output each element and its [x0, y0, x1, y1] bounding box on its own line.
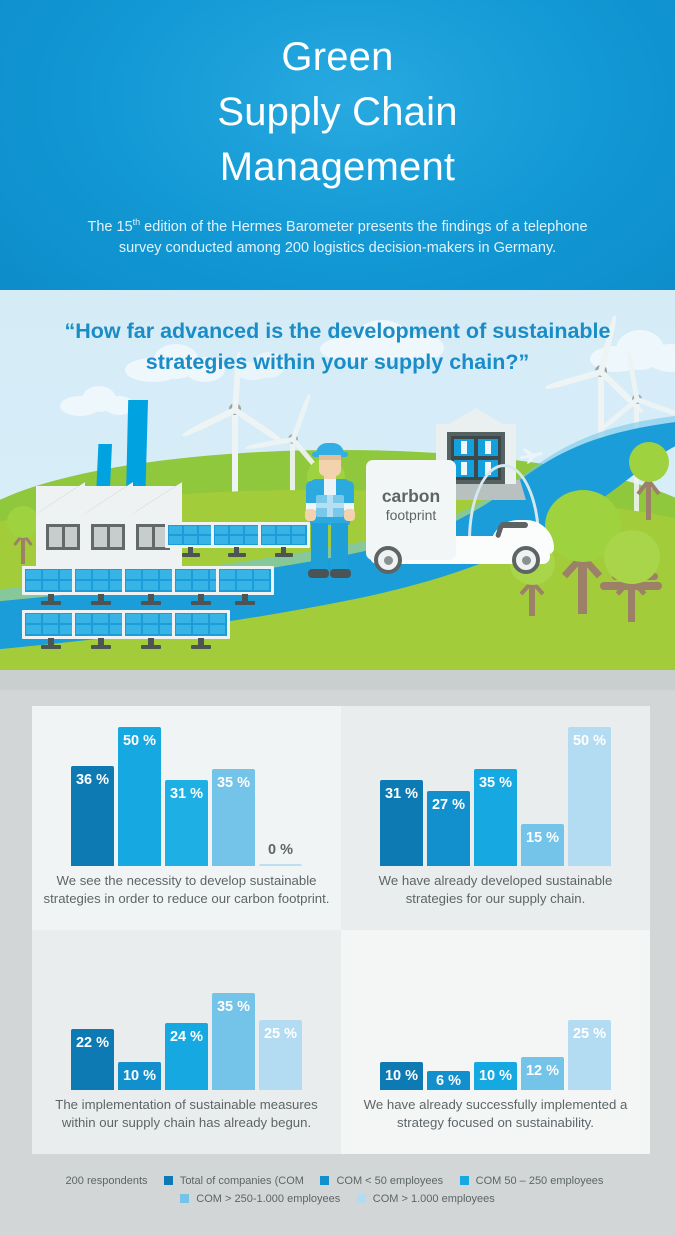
bike-hub: [384, 556, 393, 565]
bar-value-label: 24 %: [165, 1029, 208, 1045]
legend-item-250-1000[interactable]: COM > 250-1.000 employees: [180, 1190, 340, 1208]
legend-item-total[interactable]: Total of companies (COM: [164, 1172, 304, 1190]
bar-total: 36 %: [71, 766, 114, 866]
respondents-note: 200 respondents: [66, 1172, 148, 1190]
bar-gt1000: 25 %: [568, 1020, 611, 1090]
bar-value-label: 25 %: [259, 1026, 302, 1042]
bar-value-label: 36 %: [71, 772, 114, 788]
bar-value-label: 10 %: [380, 1068, 423, 1084]
bar-value-label: 31 %: [165, 786, 208, 802]
bar-50-250: 10 %: [474, 1062, 517, 1090]
box-label-line-1: carbon: [366, 486, 456, 507]
bar-value-label: 35 %: [212, 775, 255, 791]
chart-plot-4: 10 % 6 % 10 % 12 % 25 %: [341, 930, 650, 1090]
question-headline: “How far advanced is the development of …: [0, 316, 675, 378]
header-subtitle: The 15th edition of the Hermes Barometer…: [0, 212, 675, 259]
bar-value-label: 35 %: [474, 775, 517, 791]
bar-gt1000: 0 %: [259, 864, 302, 866]
legend-item-50-250[interactable]: COM 50 – 250 employees: [460, 1172, 604, 1190]
chart-caption-3: The implementation of sustainable measur…: [42, 1096, 331, 1131]
bar-value-label: 10 %: [474, 1068, 517, 1084]
bar-value-label: 35 %: [212, 999, 255, 1015]
chart-panel-4: 10 % 6 % 10 % 12 % 25 % We have already …: [341, 930, 650, 1154]
bar-group-3: 22 % 10 % 24 % 35 % 25 %: [32, 940, 341, 1090]
bar-total: 10 %: [380, 1062, 423, 1090]
cargo-bike: carbon footprint: [360, 458, 570, 580]
charts-section: 36 % 50 % 31 % 35 % 0 % We see the neces…: [0, 690, 675, 1170]
title-line-1: Green: [0, 30, 675, 85]
bar-value-label: 27 %: [427, 797, 470, 813]
bar-gt1000: 50 %: [568, 727, 611, 866]
bar-lt50: 6 %: [427, 1071, 470, 1090]
title-line-3: Management: [0, 140, 675, 195]
legend-label: COM 50 – 250 employees: [476, 1175, 604, 1187]
bar-lt50: 10 %: [118, 1062, 161, 1090]
chart-plot-2: 31 % 27 % 35 % 15 % 50 %: [341, 706, 650, 866]
bar-value-label: 22 %: [71, 1035, 114, 1051]
chart-caption-4: We have already successfully implemented…: [351, 1096, 640, 1131]
bar-value-label: 50 %: [118, 733, 161, 749]
solar-panel-icon: [172, 610, 234, 648]
title-line-2: Supply Chain: [0, 85, 675, 140]
bar-value-label: 31 %: [380, 786, 423, 802]
bar-group-4: 10 % 6 % 10 % 12 % 25 %: [341, 940, 650, 1090]
carbon-footprint-box: carbon footprint: [366, 460, 456, 560]
chart-plot-1: 36 % 50 % 31 % 35 % 0 %: [32, 706, 341, 866]
legend-label: COM < 50 employees: [336, 1175, 443, 1187]
header-banner: Green Supply Chain Management The 15th e…: [0, 0, 675, 290]
subtitle-pre: The 15: [87, 219, 132, 235]
legend-swatch-icon: [180, 1194, 189, 1203]
legend-item-lt50[interactable]: COM < 50 employees: [320, 1172, 443, 1190]
bar-value-label: 0 %: [259, 842, 302, 858]
bar-gt1000: 25 %: [259, 1020, 302, 1090]
legend-row-1: 200 respondents Total of companies (COM …: [0, 1172, 675, 1190]
bar-250-1000: 15 %: [521, 824, 564, 866]
legend: 200 respondents Total of companies (COM …: [0, 1172, 675, 1208]
bar-50-250: 35 %: [474, 769, 517, 866]
legend-swatch-icon: [320, 1176, 329, 1185]
bar-value-label: 10 %: [118, 1068, 161, 1084]
bar-lt50: 50 %: [118, 727, 161, 866]
bar-group-1: 36 % 50 % 31 % 35 % 0 %: [32, 716, 341, 866]
legend-label: COM > 1.000 employees: [373, 1193, 495, 1205]
bar-value-label: 50 %: [568, 733, 611, 749]
bar-50-250: 31 %: [165, 780, 208, 866]
legend-label: Total of companies (COM: [180, 1175, 304, 1187]
bar-total: 31 %: [380, 780, 423, 866]
bar-250-1000: 35 %: [212, 769, 255, 866]
chart-panel-2: 31 % 27 % 35 % 15 % 50 % We have already…: [341, 706, 650, 930]
chart-panel-1: 36 % 50 % 31 % 35 % 0 % We see the neces…: [32, 706, 341, 930]
legend-row-2: COM > 250-1.000 employees COM > 1.000 em…: [0, 1190, 675, 1208]
box-label-line-2: footprint: [366, 507, 456, 523]
bike-seat: [500, 522, 528, 528]
bar-lt50: 27 %: [427, 791, 470, 866]
bar-50-250: 24 %: [165, 1023, 208, 1090]
bar-group-2: 31 % 27 % 35 % 15 % 50 %: [341, 716, 650, 866]
box-label: carbon footprint: [366, 486, 456, 523]
bar-value-label: 15 %: [521, 830, 564, 846]
bar-250-1000: 12 %: [521, 1057, 564, 1090]
legend-swatch-icon: [460, 1176, 469, 1185]
bar-total: 22 %: [71, 1029, 114, 1090]
legend-label: COM > 250-1.000 employees: [196, 1193, 340, 1205]
page-title: Green Supply Chain Management: [0, 30, 675, 195]
legend-swatch-icon: [357, 1194, 366, 1203]
bar-value-label: 12 %: [521, 1063, 564, 1079]
bar-value-label: 25 %: [568, 1026, 611, 1042]
illustration-scene: “How far advanced is the development of …: [0, 290, 675, 690]
legend-swatch-icon: [164, 1176, 173, 1185]
legend-item-gt1000[interactable]: COM > 1.000 employees: [357, 1190, 495, 1208]
solar-panel-icon: [216, 566, 278, 604]
bike-hub: [522, 556, 531, 565]
chart-panel-3: 22 % 10 % 24 % 35 % 25 % The implementat…: [32, 930, 341, 1154]
chart-plot-3: 22 % 10 % 24 % 35 % 25 %: [32, 930, 341, 1090]
worker-figure: [300, 443, 360, 583]
chart-caption-2: We have already developed sustainable st…: [351, 872, 640, 907]
chart-caption-1: We see the necessity to develop sustaina…: [42, 872, 331, 907]
bar-250-1000: 35 %: [212, 993, 255, 1090]
subtitle-post: edition of the Hermes Barometer presents…: [119, 219, 588, 256]
infographic-page: Green Supply Chain Management The 15th e…: [0, 0, 675, 1236]
bar-value-label: 6 %: [427, 1073, 470, 1089]
ground-strip: [0, 670, 675, 690]
